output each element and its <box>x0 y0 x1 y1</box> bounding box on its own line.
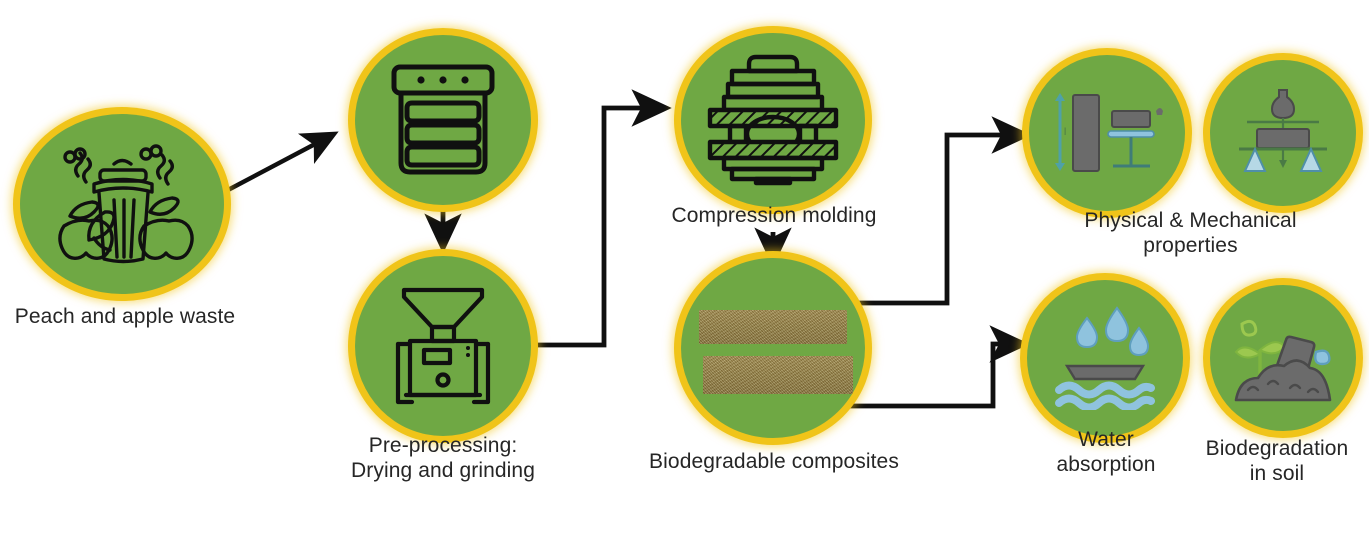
node-flexural-test[interactable] <box>1210 60 1356 206</box>
caption-physical-mechanical-properties: Physical & Mechanical properties <box>1012 209 1369 259</box>
caption-pre-processing: Pre-processing: Drying and grinding <box>318 434 568 484</box>
caption-compression-molding: Compression molding <box>640 204 908 229</box>
node-pre-processing[interactable] <box>355 256 531 436</box>
node-peach-apple-waste[interactable] <box>20 114 224 294</box>
caption-water-absorption: Water absorption <box>1020 428 1192 478</box>
caption-peach-apple-waste: Peach and apple waste <box>0 305 250 330</box>
svg-text:l: l <box>1064 127 1066 138</box>
waste-bin-fruit-icon <box>48 140 196 268</box>
soil-seedling-icon <box>1228 308 1338 408</box>
node-physical-mechanical[interactable]: l <box>1029 55 1185 211</box>
node-compression-molding[interactable] <box>681 33 865 207</box>
tensile-test-icon: l <box>1051 87 1163 179</box>
process-flow-diagram: Peach and apple waste <box>0 0 1369 560</box>
grinder-mill-icon <box>380 282 506 410</box>
composite-strip-bottom <box>703 356 853 394</box>
flexural-balance-icon <box>1231 86 1335 180</box>
composite-strip-top <box>699 310 847 344</box>
food-dehydrator-icon <box>381 59 505 181</box>
node-water-absorption[interactable] <box>1027 280 1183 436</box>
water-droplet-slab-icon <box>1049 306 1161 410</box>
node-biodegradable-composites[interactable] <box>681 258 865 438</box>
node-biodegradation-soil[interactable] <box>1210 285 1356 431</box>
caption-biodegradation-soil: Biodegradation in soil <box>1185 437 1369 487</box>
composite-samples-photo <box>681 258 865 438</box>
node-drying[interactable] <box>355 35 531 205</box>
compression-press-icon <box>698 53 848 187</box>
arrow-waste-to-drying <box>228 134 334 190</box>
caption-biodegradable-composites: Biodegradable composites <box>620 450 928 475</box>
arrow-composites-to-water <box>838 344 1024 406</box>
